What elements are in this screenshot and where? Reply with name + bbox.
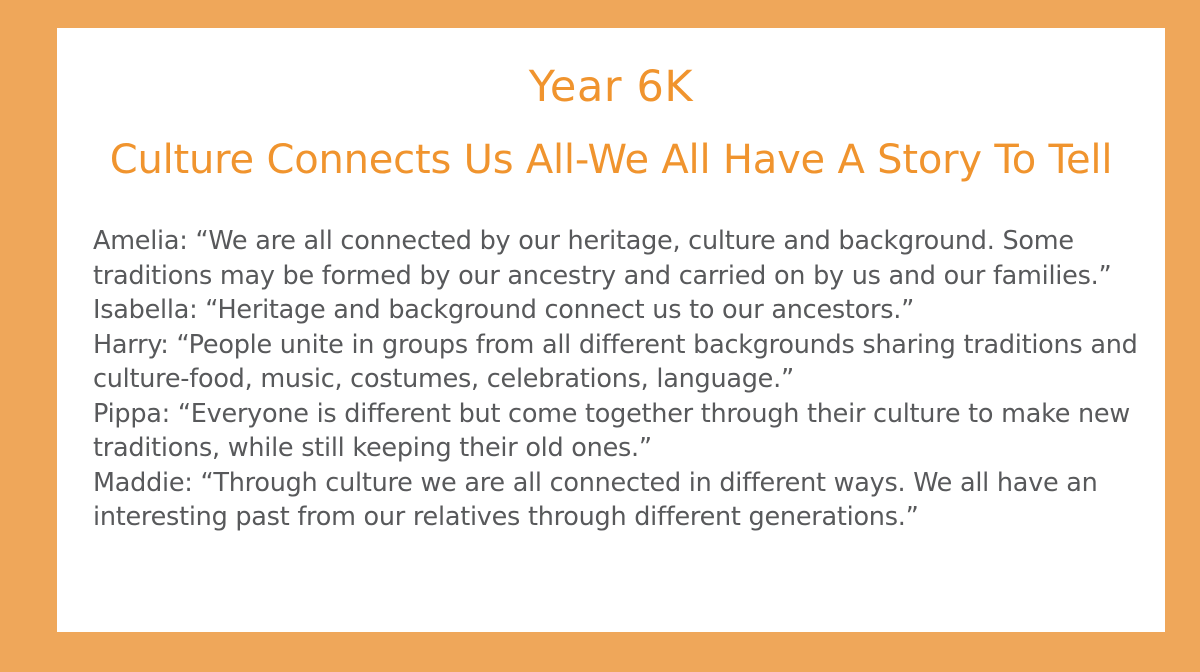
- list-item: Maddie: “Through culture we are all conn…: [93, 466, 1139, 535]
- poster-white-card: Year 6K Culture Connects Us All-We All H…: [57, 28, 1165, 632]
- list-item: Harry: “People unite in groups from all …: [93, 328, 1139, 397]
- page-title: Year 6K: [57, 66, 1165, 109]
- list-item: Amelia: “We are all connected by our her…: [93, 224, 1139, 293]
- poster-orange-border: Year 6K Culture Connects Us All-We All H…: [0, 0, 1200, 672]
- list-item: Pippa: “Everyone is different but come t…: [93, 397, 1139, 466]
- page-subtitle: Culture Connects Us All-We All Have A St…: [57, 138, 1165, 182]
- list-item: Isabella: “Heritage and background conne…: [93, 293, 1139, 328]
- student-quote-list: Amelia: “We are all connected by our her…: [93, 224, 1139, 535]
